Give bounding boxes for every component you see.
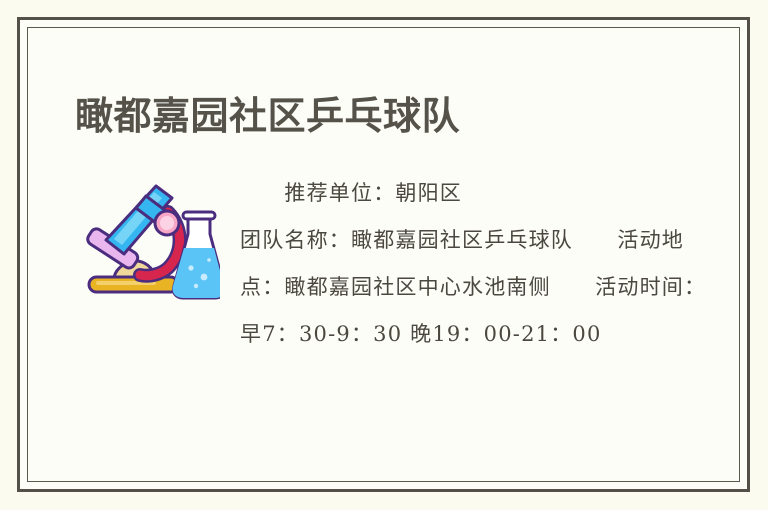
info-card: 瞰都嘉园社区乒乓球队	[17, 17, 750, 492]
info-card-inner-frame: 瞰都嘉园社区乒乓球队	[27, 27, 740, 482]
page-title: 瞰都嘉园社区乒乓球队	[75, 95, 460, 139]
card-body-text: 推荐单位：朝阳区 团队名称：瞰都嘉园社区乒乓球队 活动地点：瞰都嘉园社区中心水池…	[240, 170, 710, 358]
microscope-flask-icon	[84, 182, 220, 306]
microscope-base-shape	[89, 277, 178, 292]
microscope-lens-knob-shape	[155, 211, 179, 235]
